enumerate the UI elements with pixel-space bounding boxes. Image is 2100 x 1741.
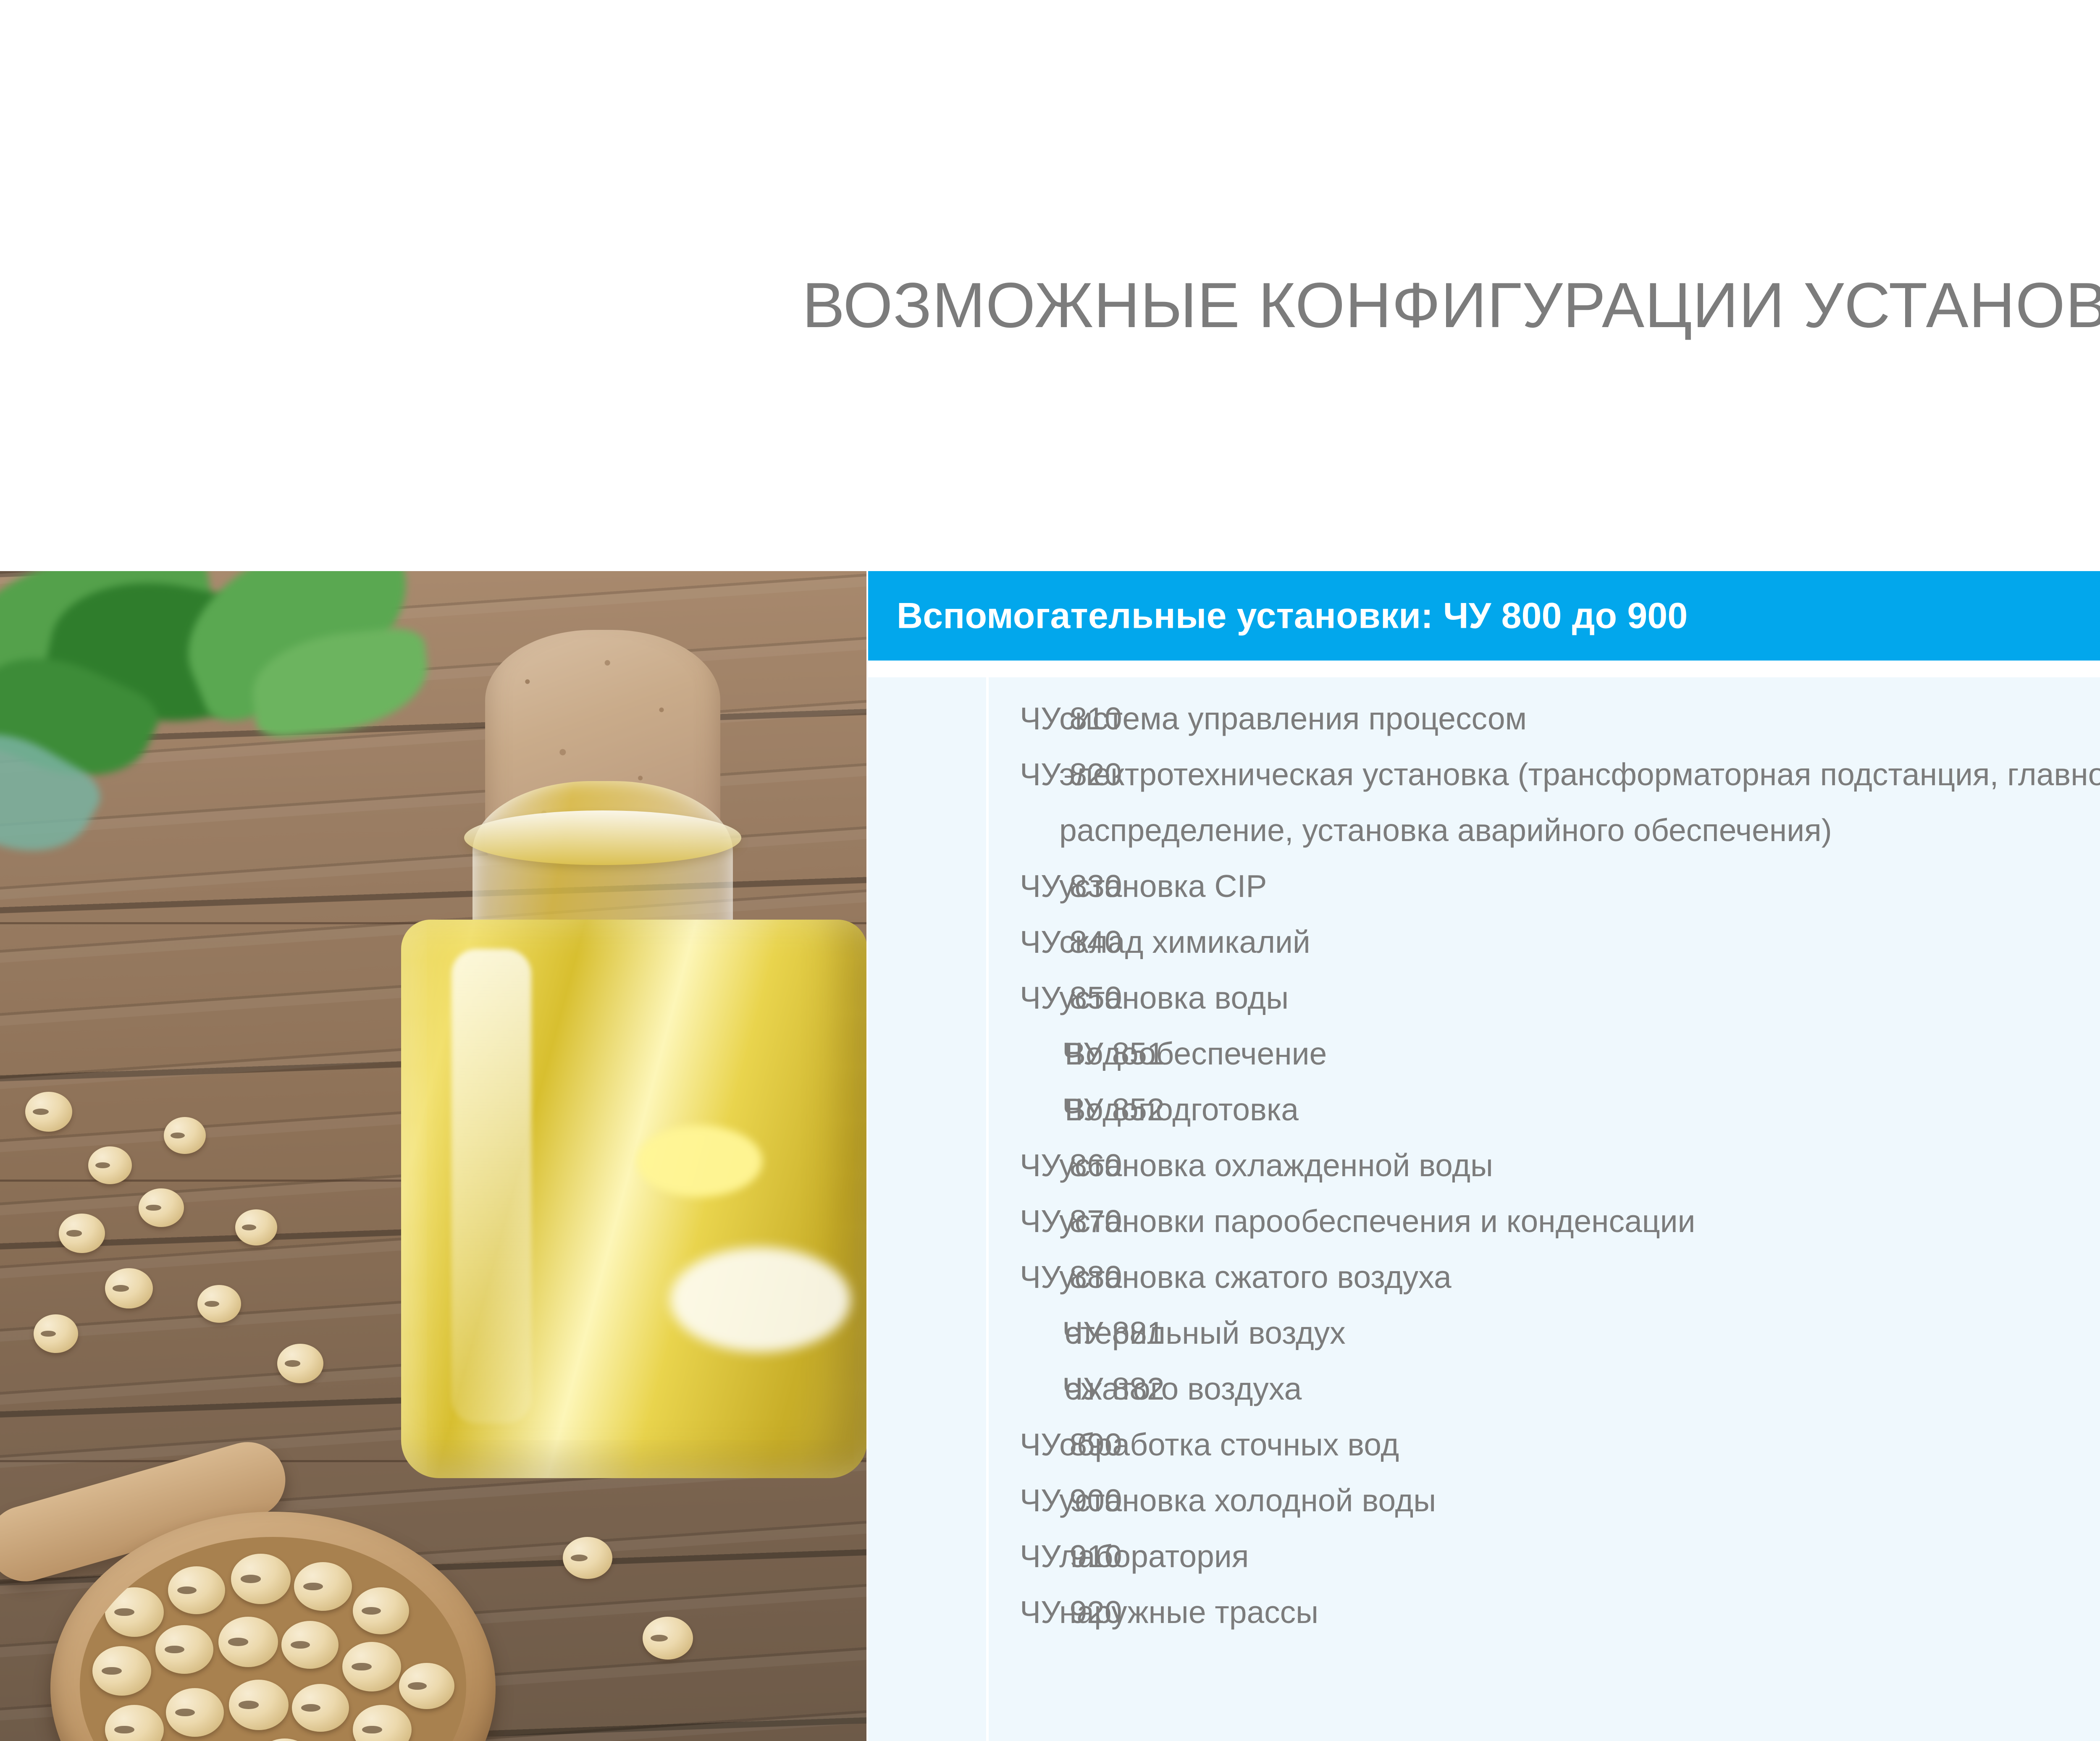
config-row: ЧУ 881стерильный воздух (868, 1305, 2100, 1361)
config-description: стерильный воздух (1062, 1305, 2100, 1361)
config-row: ЧУ 850установка воды (868, 970, 2100, 1026)
config-description: система управления процессом (1059, 691, 2100, 747)
config-description: наружные трассы (1059, 1584, 2100, 1640)
config-row: ЧУ 852Водоподготовка (868, 1082, 2100, 1138)
config-row: ЧУ 840склад химикалий (868, 914, 2100, 970)
config-code: ЧУ 852 (868, 1082, 1062, 1138)
config-description: установка CIP (1059, 858, 2100, 914)
config-code: ЧУ 882 (868, 1361, 1062, 1417)
config-code: ЧУ 890 (868, 1417, 1059, 1473)
config-code: ЧУ 900 (868, 1473, 1059, 1529)
config-description: сжатого воздуха (1062, 1361, 2100, 1417)
config-description: электротехническая установка (трансформа… (1059, 747, 2100, 858)
config-row: ЧУ 860установка охлажденной воды (868, 1138, 2100, 1193)
config-code: ЧУ 851 (868, 1026, 1062, 1082)
oil-bottle (401, 630, 866, 1499)
soybean (164, 1117, 206, 1154)
config-row: ЧУ 830установка CIP (868, 858, 2100, 914)
config-description: Водоподготовка (1062, 1082, 2100, 1138)
config-description: установка холодной воды (1059, 1473, 2100, 1529)
config-description: склад химикалий (1059, 914, 2100, 970)
soybean (235, 1209, 277, 1245)
config-code: ЧУ 860 (868, 1138, 1059, 1193)
soybean (34, 1314, 78, 1353)
config-row: ЧУ 851Водообеспечение (868, 1026, 2100, 1082)
config-description: лаборатория (1059, 1529, 2100, 1584)
config-row: ЧУ 910лаборатория (868, 1529, 2100, 1584)
soybean (25, 1092, 72, 1132)
config-row: ЧУ 810система управления процессом (868, 691, 2100, 747)
config-code: ЧУ 920 (868, 1584, 1059, 1640)
config-code: ЧУ 840 (868, 914, 1059, 970)
config-code: ЧУ 830 (868, 858, 1059, 914)
config-row: ЧУ 900установка холодной воды (868, 1473, 2100, 1529)
config-row: ЧУ 920наружные трассы (868, 1584, 2100, 1640)
config-row: ЧУ 890обработка сточных вод (868, 1417, 2100, 1473)
soybean (59, 1214, 105, 1253)
soybean-oil-photo (0, 571, 866, 1741)
configuration-list: ЧУ 810система управления процессомЧУ 820… (868, 677, 2100, 1640)
config-row: ЧУ 820электротехническая установка (тран… (868, 747, 2100, 858)
panel-header-bar: Вспомогательные установки: ЧУ 800 до 900 (868, 571, 2100, 661)
soybean (277, 1344, 323, 1383)
soybean (197, 1285, 241, 1323)
config-row: ЧУ 880установка сжатого воздуха (868, 1249, 2100, 1305)
soybean (105, 1268, 153, 1308)
config-row: ЧУ 870установки парообеспечения и конден… (868, 1193, 2100, 1249)
soybean (88, 1146, 132, 1184)
config-code: ЧУ 820 (868, 747, 1059, 802)
page-title: ВОЗМОЖНЫЕ КОНФИГУРАЦИИ УСТАНОВКИ (0, 269, 2100, 342)
config-description: установка сжатого воздуха (1059, 1249, 2100, 1305)
soybean (139, 1188, 184, 1227)
config-description: установка охлажденной воды (1059, 1138, 2100, 1193)
config-description: установки парообеспечения и конденсации (1059, 1193, 2100, 1249)
panel-body: ЧУ 810система управления процессомЧУ 820… (868, 677, 2100, 1741)
config-code: ЧУ 850 (868, 970, 1059, 1026)
config-description: обработка сточных вод (1059, 1417, 2100, 1473)
config-description-line2: распределение, установка аварийного обес… (1059, 802, 2100, 858)
panel-header-title: Вспомогательные установки: ЧУ 800 до 900 (897, 595, 1688, 637)
config-row: ЧУ 882сжатого воздуха (868, 1361, 2100, 1417)
soybean (643, 1617, 693, 1660)
config-code: ЧУ 870 (868, 1193, 1059, 1249)
config-description: установка воды (1059, 970, 2100, 1026)
soybean (563, 1537, 612, 1579)
config-code: ЧУ 910 (868, 1529, 1059, 1584)
config-code: ЧУ 880 (868, 1249, 1059, 1305)
config-code: ЧУ 881 (868, 1305, 1062, 1361)
config-code: ЧУ 810 (868, 691, 1059, 747)
configurations-panel: Вспомогательные установки: ЧУ 800 до 900… (868, 571, 2100, 1741)
config-description: Водообеспечение (1062, 1026, 2100, 1082)
config-description-line1: электротехническая установка (трансформа… (1059, 757, 2100, 792)
